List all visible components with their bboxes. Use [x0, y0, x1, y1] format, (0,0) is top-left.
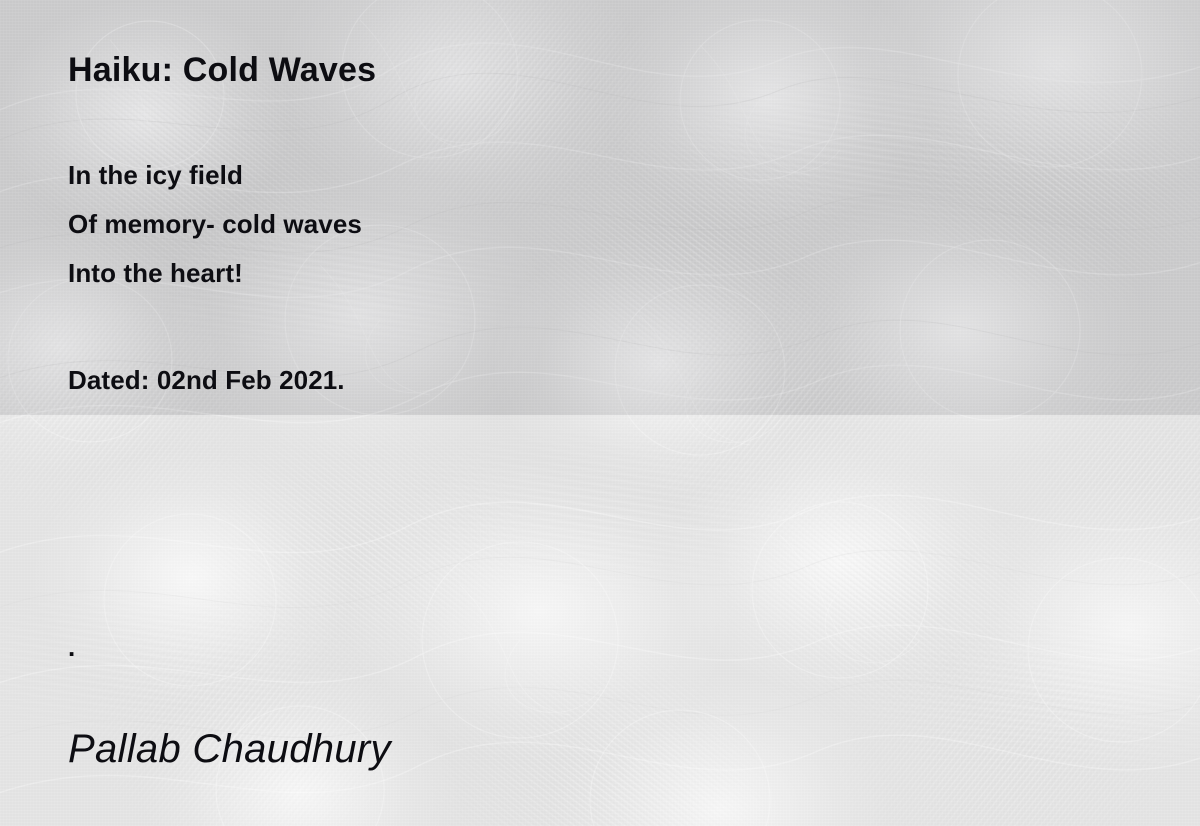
poem-line-2: Of memory- cold waves: [68, 209, 362, 240]
poem-line-3: Into the heart!: [68, 258, 243, 289]
poem-card: Haiku: Cold Waves In the icy field Of me…: [0, 0, 1200, 826]
poem-line-1: In the icy field: [68, 160, 243, 191]
poem-text-layer: Haiku: Cold Waves In the icy field Of me…: [0, 0, 1200, 826]
poem-date: Dated: 02nd Feb 2021.: [68, 365, 345, 396]
poem-title: Haiku: Cold Waves: [68, 51, 376, 90]
poem-author-signature: Pallab Chaudhury: [68, 727, 391, 772]
poem-trailing-mark: .: [68, 632, 75, 663]
